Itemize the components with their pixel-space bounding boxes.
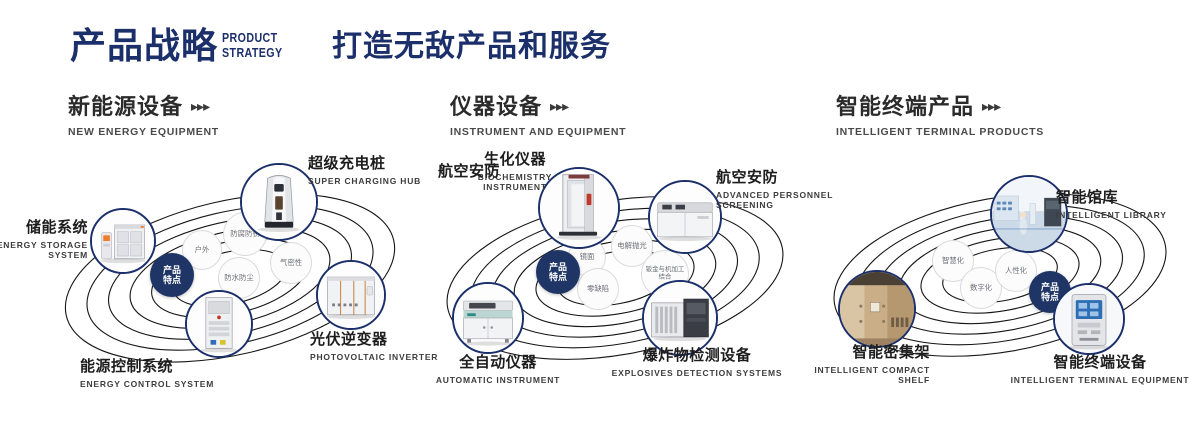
caption-terminal-equipment: 智能终端设备 INTELLIGENT TERMINAL EQUIPMENT [990, 355, 1200, 385]
caption-energy-control: 能源控制系统 ENERGY CONTROL SYSTEM [80, 359, 260, 389]
chevrons-icon: ▸▸▸ [550, 99, 568, 113]
caption-intelligent-library: 智能馆库 INTELLIGENT LIBRARY [1056, 190, 1200, 220]
section-heading-en: NEW ENERGY EQUIPMENT [68, 126, 219, 138]
product-strategy-infographic: 产品战略 PRODUCT STRATEGY 打造无敌产品和服务 新能源设备▸▸▸… [0, 0, 1200, 422]
section-heading-cn-text: 智能终端产品 [836, 94, 974, 119]
cluster-instrument: 镜面 电解抛光 零缺陷 钣金与机加工结合 产品特点 生化仪器 BIOCHEM [420, 150, 810, 395]
section-heading-en: INTELLIGENT TERMINAL PRODUCTS [836, 126, 1044, 138]
product-bubble-advanced-screening[interactable] [648, 180, 722, 254]
page-title-english: PRODUCT STRATEGY [222, 31, 286, 60]
section-heading-new-energy: 新能源设备▸▸▸ NEW ENERGY EQUIPMENT [68, 96, 219, 138]
section-heading-cn: 仪器设备▸▸▸ [450, 96, 626, 118]
feature-pill: 零缺陷 [577, 268, 619, 310]
cluster-intelligent-terminal: 智慧化 数字化 人性化 产品特点 [810, 155, 1200, 400]
product-bubble-energy-storage[interactable] [90, 208, 156, 274]
section-heading-en: INSTRUMENT AND EQUIPMENT [450, 126, 626, 138]
chevrons-icon: ▸▸▸ [191, 99, 209, 113]
caption-energy-storage: 储能系统 ENERGY STORAGESYSTEM [0, 220, 88, 261]
core-badge: 产品特点 [150, 253, 194, 297]
section-heading-cn: 智能终端产品▸▸▸ [836, 96, 1044, 118]
product-bubble-automatic-instrument[interactable] [452, 282, 524, 354]
product-bubble-charging-pile[interactable] [240, 163, 318, 241]
page-subtitle: 打造无敌产品和服务 [332, 32, 611, 62]
product-bubble-explosives-detection[interactable] [642, 280, 718, 356]
caption-en: INTELLIGENT COMPACTSHELF [760, 365, 930, 386]
product-bubble-pv-inverter[interactable] [316, 260, 386, 330]
section-heading-cn-text: 新能源设备 [68, 94, 183, 119]
cluster-new-energy: 户外 防腐防锈 气密性 防水防尘 产品特点 [40, 150, 420, 390]
caption-aviation-security-left: 航空安防 [390, 164, 500, 181]
feature-pill: 气密性 [270, 242, 312, 284]
product-bubble-energy-control[interactable] [185, 290, 253, 358]
core-badge: 产品特点 [536, 250, 580, 294]
product-bubble-terminal-equipment[interactable] [1053, 283, 1125, 355]
section-heading-cn-text: 仪器设备 [450, 94, 542, 119]
caption-automatic-instrument: 全自动仪器 AUTOMATIC INSTRUMENT [408, 355, 588, 385]
caption-en: ENERGY STORAGESYSTEM [0, 240, 88, 261]
page-title: 产品战略 [70, 28, 218, 64]
caption-compact-shelf: 智能密集架 INTELLIGENT COMPACTSHELF [760, 345, 930, 386]
section-heading-cn: 新能源设备▸▸▸ [68, 96, 219, 118]
page-title-english-line1: PRODUCT [222, 31, 286, 46]
product-bubble-compact-shelf[interactable] [838, 270, 916, 348]
chevrons-icon: ▸▸▸ [982, 99, 1000, 113]
section-heading-instrument: 仪器设备▸▸▸ INSTRUMENT AND EQUIPMENT [450, 96, 626, 138]
page-title-english-line2: STRATEGY [222, 46, 286, 61]
page-header: 产品战略 PRODUCT STRATEGY 打造无敌产品和服务 [0, 0, 1200, 86]
section-heading-intelligent-terminal: 智能终端产品▸▸▸ INTELLIGENT TERMINAL PRODUCTS [836, 96, 1044, 138]
